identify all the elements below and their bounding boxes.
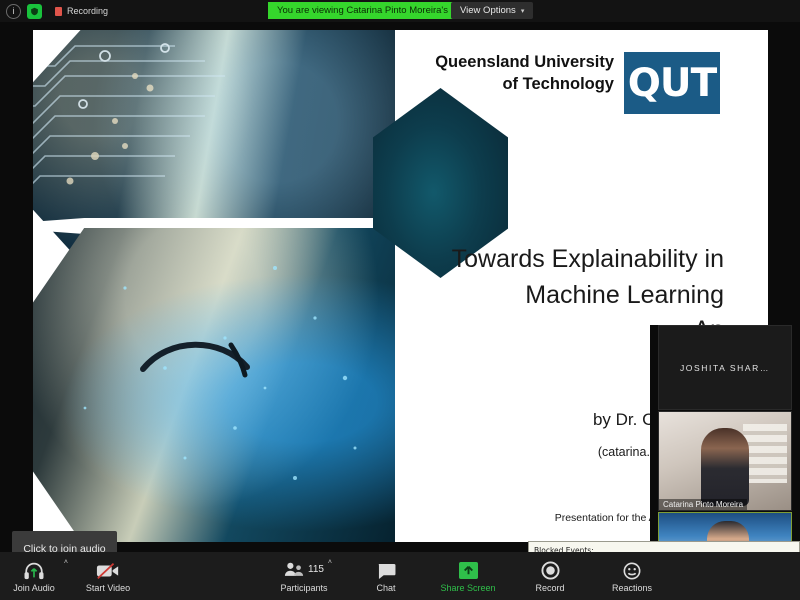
participants-count: 115: [308, 564, 324, 575]
share-screen-label: Share Screen: [440, 583, 495, 593]
qut-logo: QUT: [624, 52, 720, 114]
university-name: Queensland University of Technology: [435, 52, 614, 96]
video-tile[interactable]: Catarina Pinto Moreira: [658, 411, 792, 511]
info-icon[interactable]: i: [6, 4, 21, 19]
share-screen-button[interactable]: Share Screen: [440, 554, 496, 598]
join-audio-button[interactable]: Join Audio ˄: [6, 554, 62, 598]
chat-button[interactable]: Chat: [358, 554, 414, 598]
qut-branding: Queensland University of Technology QUT: [435, 52, 720, 114]
view-options-button[interactable]: View Options ▾: [451, 2, 533, 19]
meeting-top-bar: i Recording You are viewing Catarina Pin…: [0, 0, 800, 22]
closed-eye-shape: [135, 323, 255, 413]
camera-off-icon: [96, 560, 120, 580]
record-label: Record: [535, 583, 564, 593]
tile-background-shelf: [743, 424, 787, 483]
chevron-up-icon[interactable]: ˄: [64, 559, 68, 566]
reactions-label: Reactions: [612, 583, 652, 593]
meeting-toolbar: Join Audio ˄ Start Video: [0, 552, 800, 600]
reactions-button[interactable]: Reactions: [604, 554, 660, 598]
encryption-shield-icon[interactable]: [27, 4, 42, 19]
recording-label: Recording: [67, 6, 108, 16]
start-video-label: Start Video: [86, 583, 130, 593]
slide-author: by Dr. Cata: [298, 410, 678, 430]
slide-email: (catarina.pinton: [304, 445, 684, 459]
chat-label: Chat: [376, 583, 395, 593]
start-video-button[interactable]: Start Video: [80, 554, 136, 598]
zoom-meeting-window: i Recording You are viewing Catarina Pin…: [0, 0, 800, 600]
record-button[interactable]: Record: [522, 554, 578, 598]
participants-button[interactable]: 115 Participants ˄: [276, 554, 332, 598]
headphone-icon: [23, 560, 45, 580]
join-audio-tooltip: Click to join audio: [12, 531, 117, 552]
video-tile[interactable]: JOSHITA SHAR…: [658, 325, 792, 410]
slide-footer: Presentation for the ACM: [292, 512, 672, 524]
participants-label: Participants: [280, 583, 327, 593]
recording-indicator[interactable]: Recording: [55, 6, 108, 16]
tile-participant-name: JOSHITA SHAR…: [680, 363, 770, 373]
chevron-down-icon: ▾: [521, 7, 525, 15]
recording-dot-icon: [55, 7, 62, 16]
participants-icon: 115: [284, 560, 324, 580]
smiley-icon: [623, 560, 641, 580]
tile-person-silhouette: [701, 428, 749, 506]
share-screen-icon: [458, 560, 479, 580]
tile-participant-name: Catarina Pinto Moreira: [659, 499, 747, 510]
chat-bubble-icon: [377, 560, 396, 580]
chevron-up-icon[interactable]: ˄: [328, 559, 332, 566]
join-audio-label: Join Audio: [13, 583, 55, 593]
view-options-label: View Options: [460, 5, 516, 16]
record-circle-icon: [541, 560, 560, 580]
